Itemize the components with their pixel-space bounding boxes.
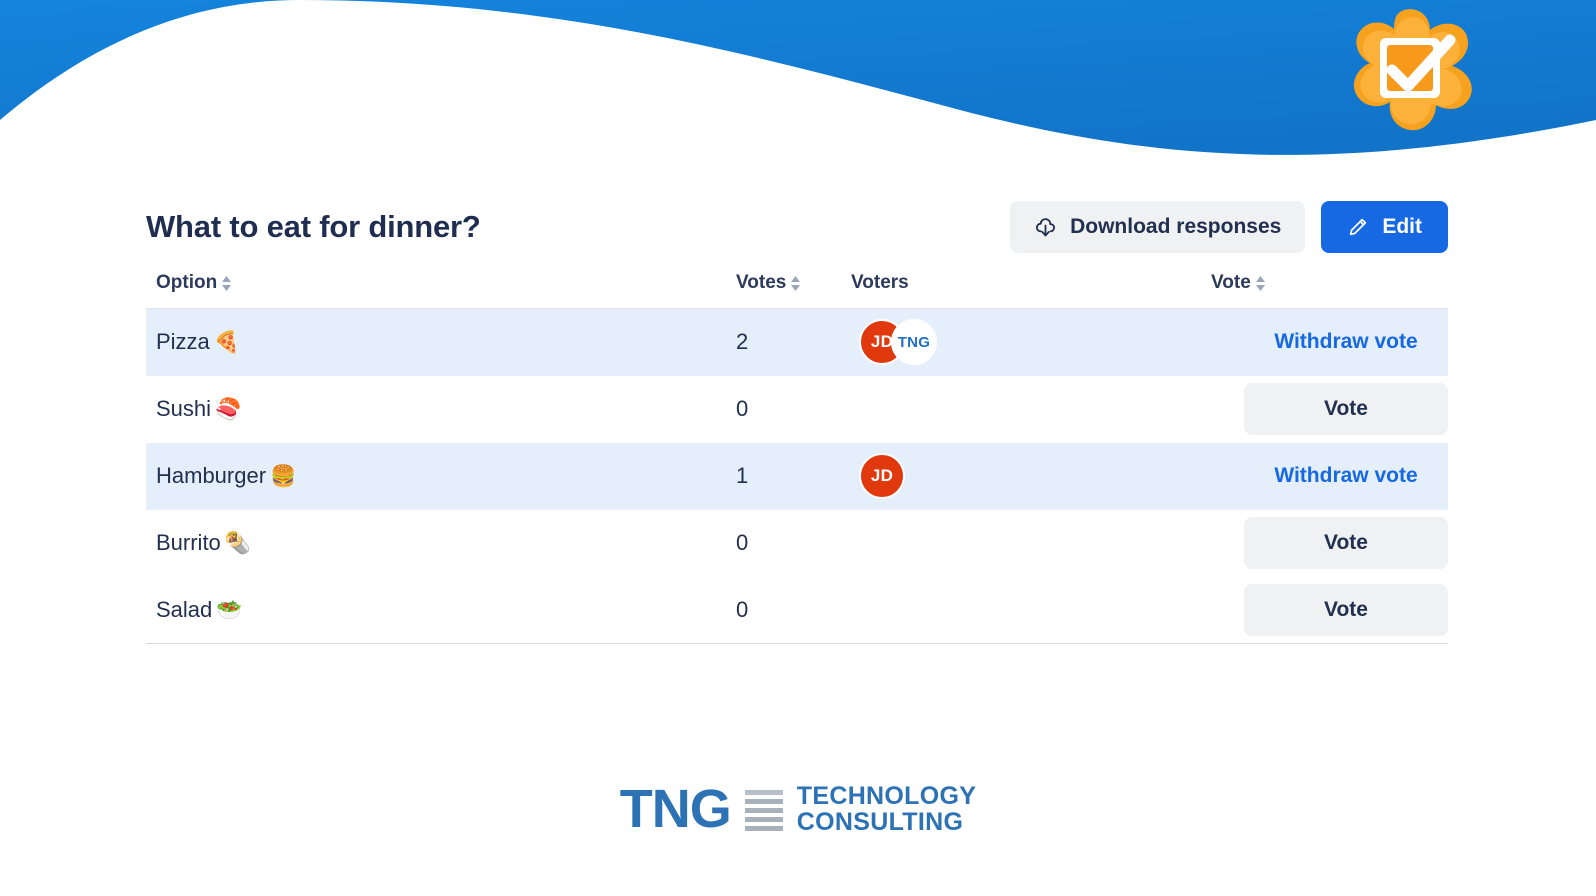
column-header-option-label: Option <box>156 272 217 294</box>
tng-brand-text: TNG <box>620 782 731 836</box>
option-label: Pizza <box>156 329 210 354</box>
sort-icon <box>1255 275 1266 292</box>
avatar-stack: JDTNG <box>853 319 1211 365</box>
cell-votes: 0 <box>736 376 851 443</box>
cell-voters <box>851 376 1211 443</box>
column-header-voters-label: Voters <box>851 272 909 294</box>
option-label: Burrito <box>156 530 221 555</box>
page-title: What to eat for dinner? <box>146 209 481 245</box>
vote-button[interactable]: Vote <box>1244 517 1448 569</box>
cell-vote-action: Withdraw vote <box>1211 309 1448 376</box>
tng-tagline-line2: CONSULTING <box>797 809 976 836</box>
table-header: Option Votes <box>146 268 1448 309</box>
download-responses-label: Download responses <box>1070 215 1281 239</box>
poll-actions: Download responses Edit <box>1010 201 1448 253</box>
poll-results-table: Option Votes <box>146 268 1448 644</box>
cell-option: Sushi🍣 <box>146 376 736 443</box>
column-header-vote-label: Vote <box>1211 272 1251 294</box>
option-emoji-icon: 🥗 <box>216 599 242 622</box>
cell-votes: 2 <box>736 309 851 376</box>
column-header-votes[interactable]: Votes <box>736 268 851 309</box>
cell-votes: 0 <box>736 577 851 644</box>
cell-voters: JD <box>851 443 1211 510</box>
vote-button[interactable]: Vote <box>1244 383 1448 435</box>
column-header-vote[interactable]: Vote <box>1211 268 1448 309</box>
pencil-icon <box>1347 216 1369 238</box>
option-label: Sushi <box>156 396 211 421</box>
withdraw-vote-link[interactable]: Withdraw vote <box>1244 316 1448 368</box>
vote-button[interactable]: Vote <box>1244 584 1448 636</box>
withdraw-vote-link[interactable]: Withdraw vote <box>1244 450 1448 502</box>
option-emoji-icon: 🍣 <box>215 398 241 421</box>
avatar[interactable]: TNG <box>891 319 937 365</box>
poll-header-row: What to eat for dinner? Download respons… <box>146 196 1448 258</box>
tng-tagline-line1: TECHNOLOGY <box>797 783 976 810</box>
option-label: Hamburger <box>156 463 266 488</box>
option-emoji-icon: 🌯 <box>225 532 251 555</box>
cell-votes: 1 <box>736 443 851 510</box>
sort-icon <box>221 275 232 292</box>
tng-logo: TNG TECHNOLOGY CONSULTING <box>620 782 976 836</box>
avatar[interactable]: JD <box>859 453 905 499</box>
poll-card: What to eat for dinner? Download respons… <box>146 196 1448 644</box>
cell-vote-action: Vote <box>1211 376 1448 443</box>
column-header-option[interactable]: Option <box>146 268 736 309</box>
poll-app-logo <box>1338 4 1484 134</box>
option-emoji-icon: 🍕 <box>214 331 240 354</box>
column-header-votes-label: Votes <box>736 272 786 294</box>
table-header-row: Option Votes <box>146 268 1448 309</box>
cell-vote-action: Withdraw vote <box>1211 443 1448 510</box>
cell-option: Pizza🍕 <box>146 309 736 376</box>
cell-option: Hamburger🍔 <box>146 443 736 510</box>
table-row: Sushi🍣0Vote <box>146 376 1448 443</box>
cell-option: Burrito🌯 <box>146 510 736 577</box>
option-label: Salad <box>156 597 212 622</box>
cell-voters: JDTNG <box>851 309 1211 376</box>
table-row: Salad🥗0Vote <box>146 577 1448 644</box>
cell-option: Salad🥗 <box>146 577 736 644</box>
sort-icon <box>790 275 801 292</box>
cell-vote-action: Vote <box>1211 510 1448 577</box>
cell-vote-action: Vote <box>1211 577 1448 644</box>
tng-bars-icon <box>745 788 783 831</box>
tng-tagline: TECHNOLOGY CONSULTING <box>797 783 976 836</box>
cell-voters <box>851 510 1211 577</box>
footer: TNG TECHNOLOGY CONSULTING <box>0 782 1596 836</box>
edit-button[interactable]: Edit <box>1321 201 1448 253</box>
cloud-download-icon <box>1034 216 1057 239</box>
cell-voters <box>851 577 1211 644</box>
cell-votes: 0 <box>736 510 851 577</box>
table-body: Pizza🍕2JDTNGWithdraw voteSushi🍣0VoteHamb… <box>146 309 1448 644</box>
table-row: Hamburger🍔1JDWithdraw vote <box>146 443 1448 510</box>
column-header-voters: Voters <box>851 268 1211 309</box>
option-emoji-icon: 🍔 <box>270 465 296 488</box>
table-row: Burrito🌯0Vote <box>146 510 1448 577</box>
avatar-stack: JD <box>853 453 1211 499</box>
download-responses-button[interactable]: Download responses <box>1010 201 1305 253</box>
poll-app-logo-icon <box>1338 4 1484 134</box>
table-row: Pizza🍕2JDTNGWithdraw vote <box>146 309 1448 376</box>
edit-label: Edit <box>1382 215 1422 239</box>
